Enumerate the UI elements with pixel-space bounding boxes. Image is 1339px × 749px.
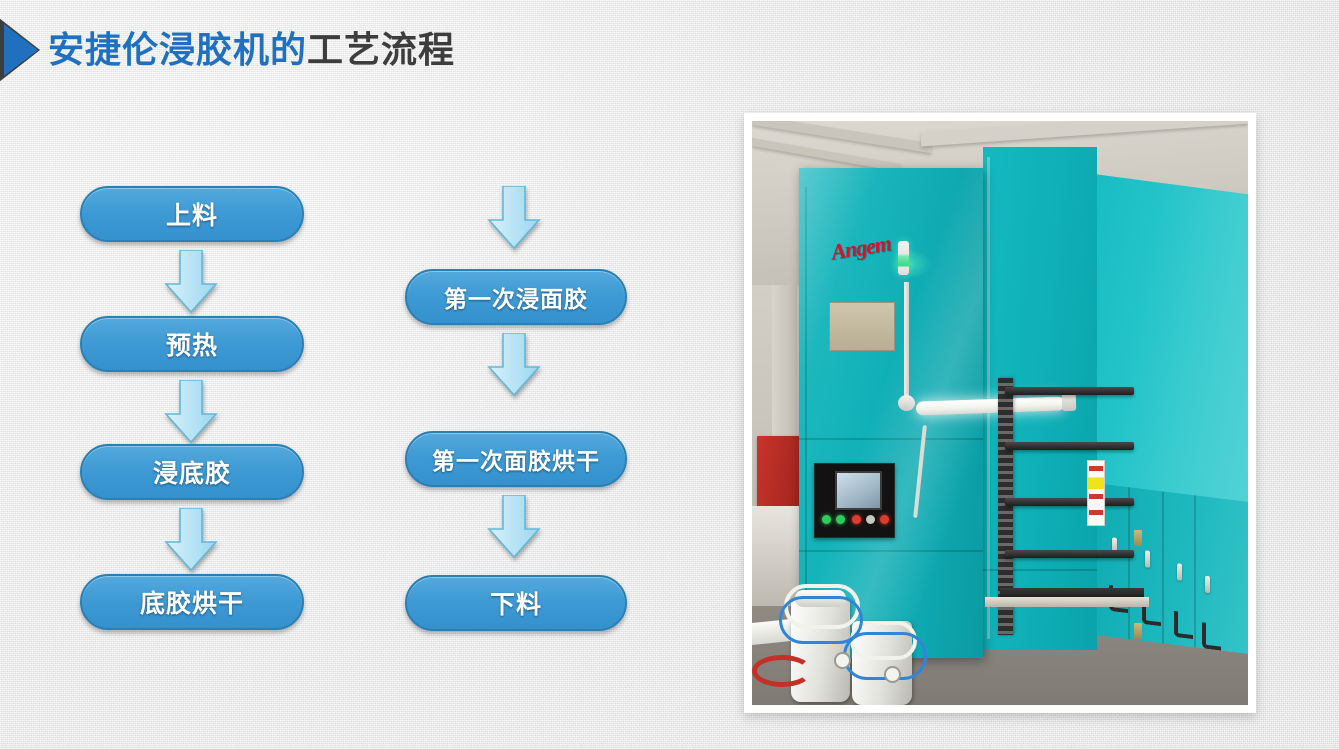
door-handle-icon[interactable] — [1177, 563, 1182, 581]
flow-node-unloading[interactable]: 下料 — [405, 575, 627, 631]
panel-button-grey[interactable] — [866, 515, 875, 524]
process-flowchart: 上料 预热 浸底胶 底胶烘干 第一次浸面胶 — [0, 0, 700, 749]
hmi-screen[interactable] — [835, 471, 883, 510]
pressure-gauge — [884, 666, 901, 683]
panel-button-emergency-stop[interactable] — [880, 515, 889, 524]
machine-photo-frame: Angem — [744, 113, 1256, 713]
conveyor-rung — [1005, 498, 1134, 506]
arrow-first-dry-to-unloading-icon — [487, 495, 541, 559]
arrow-preheat-to-dip-base-icon — [164, 380, 218, 444]
panel-seam — [1128, 487, 1130, 639]
stack-light-pole — [904, 282, 909, 410]
hmi-control-panel[interactable] — [814, 463, 895, 538]
pressure-gauge — [834, 652, 851, 669]
machine-ledge — [985, 597, 1149, 607]
panel-button-green[interactable] — [822, 515, 831, 524]
panel-seam — [1162, 491, 1164, 643]
machine-nameplate — [829, 302, 895, 351]
cabinet-hinge — [1134, 623, 1142, 639]
conveyor-rung — [1005, 550, 1134, 558]
cabinet-hinge — [1134, 530, 1142, 546]
flow-node-base-glue-drying[interactable]: 底胶烘干 — [80, 574, 304, 630]
door-lever-icon[interactable] — [1202, 622, 1221, 650]
panel-button-red[interactable] — [852, 515, 861, 524]
arrow-loading-to-preheat-icon — [164, 250, 218, 314]
flow-node-first-surface-drying[interactable]: 第一次面胶烘干 — [405, 431, 627, 487]
fluorescent-lamp-cap — [1062, 393, 1077, 411]
warning-label-row — [1089, 466, 1103, 471]
blue-air-hose — [779, 596, 863, 644]
warning-label-strip — [1087, 460, 1105, 526]
door-handle-icon[interactable] — [1145, 550, 1150, 568]
stack-light-tower-icon — [898, 241, 909, 275]
arrow-dip-base-to-base-dry-icon — [164, 508, 218, 572]
slide-canvas: 安捷伦浸胶机的工艺流程 上料 预热 浸底胶 底胶烘干 — [0, 0, 1339, 749]
panel-seam — [1194, 495, 1196, 647]
flow-node-preheat[interactable]: 预热 — [80, 316, 304, 372]
pneumatic-pressure-pots — [752, 565, 980, 705]
arrow-column-bridge-icon — [487, 186, 541, 250]
conveyor-rung — [1005, 442, 1134, 450]
warning-label-row — [1089, 494, 1103, 499]
machine-photo: Angem — [752, 121, 1248, 705]
machine-right-lower-section — [1094, 483, 1248, 654]
door-lever-icon[interactable] — [1174, 611, 1193, 639]
door-handle-icon[interactable] — [1205, 576, 1210, 594]
arrow-first-dip-to-first-dry-icon — [487, 333, 541, 397]
ceiling-beam — [921, 121, 1248, 146]
flow-node-dip-base-glue[interactable]: 浸底胶 — [80, 444, 304, 500]
conveyor-rung — [1005, 387, 1134, 395]
red-hose-coil — [752, 655, 812, 687]
flow-node-first-surface-dip[interactable]: 第一次浸面胶 — [405, 269, 627, 325]
warning-label-row — [1089, 510, 1103, 515]
panel-button-green[interactable] — [836, 515, 845, 524]
flow-node-loading[interactable]: 上料 — [80, 186, 304, 242]
